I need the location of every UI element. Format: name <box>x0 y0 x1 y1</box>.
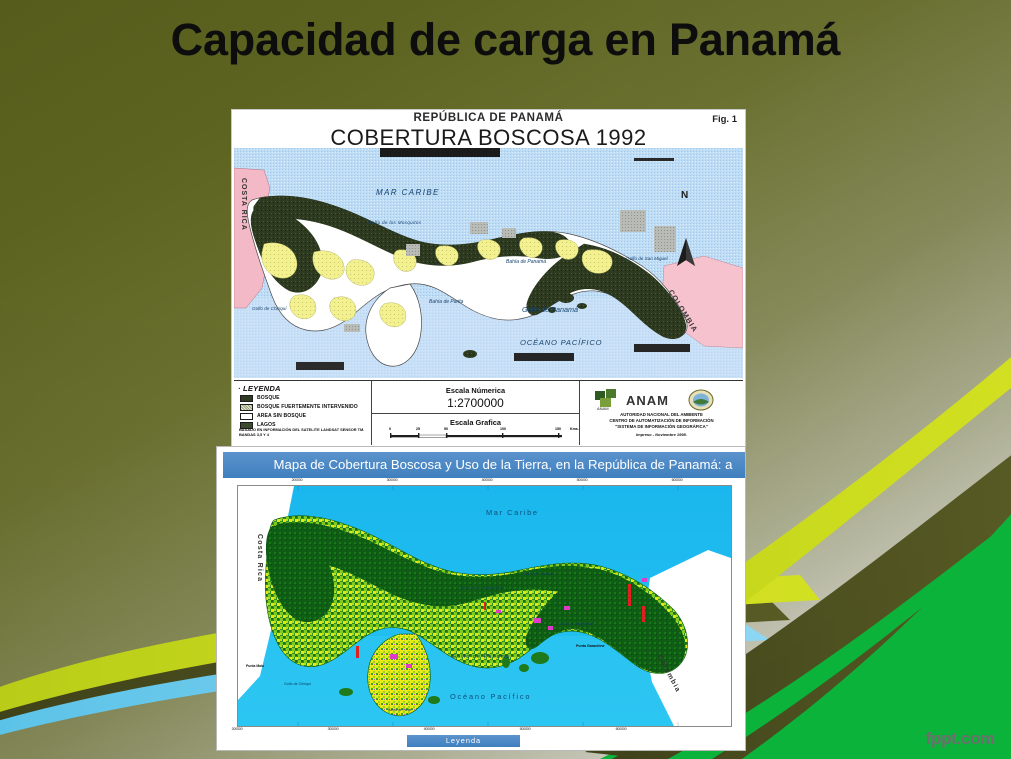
legend-header: · LEYENDA <box>238 384 281 393</box>
sig-seal-icon <box>688 389 714 411</box>
map-image-cobertura-uso-tierra[interactable]: Mapa de Cobertura Boscosa y Uso de la Ti… <box>217 447 745 750</box>
map2-tick: 400000 <box>482 478 493 482</box>
scale-tick: 100 <box>500 427 506 431</box>
fppt-watermark: fppt.com <box>926 729 995 749</box>
map2-tick: 500000 <box>577 478 588 482</box>
map2-legend-button[interactable]: Leyenda <box>407 735 520 747</box>
legend-source-note: BASADO EN INFORMACIÓN DEL SATELITE LANDS… <box>239 427 367 438</box>
legend-label-bosque-intervenido: BOSQUE FUERTEMENTE INTERVENIDO <box>257 404 358 410</box>
legend-swatch-bosque <box>240 395 253 402</box>
svg-text:ANAM: ANAM <box>597 406 609 411</box>
map2-title-bar: Mapa de Cobertura Boscosa y Uso de la Ti… <box>223 452 745 478</box>
map2-tick: 300000 <box>328 727 339 731</box>
anam-line3: "SISTEMA DE INFORMACIÓN GEOGRÁFICA" <box>582 424 741 430</box>
scale-units: Kms. <box>570 427 579 431</box>
map-image-cobertura-1992[interactable]: REPÚBLICA DE PANAMÁ COBERTURA BOSCOSA 19… <box>232 110 745 446</box>
legend-label-area-sin-bosque: AREA SIN BOSQUE <box>257 413 306 419</box>
scale-tick: 150 <box>555 427 561 431</box>
map1-subtitle: REPÚBLICA DE PANAMÁ <box>232 112 745 124</box>
legend-swatch-bosque-intervenido <box>240 404 253 411</box>
map2-tick: 600000 <box>616 727 627 731</box>
anam-description: AUTORIDAD NACIONAL DEL AMBIENTE CENTRO D… <box>582 412 741 431</box>
map2-tick: 200000 <box>292 478 303 482</box>
map1-agency: ANAM ANAM AUTORIDAD NACIONAL DEL AMBIENT… <box>580 381 743 445</box>
legend-swatch-area-sin-bosque <box>240 413 253 420</box>
scale-tick: 50 <box>444 427 448 431</box>
page-title: Capacidad de carga en Panamá <box>0 14 1011 66</box>
anam-logo-icon: ANAM <box>594 389 622 411</box>
scale-bar <box>390 431 562 440</box>
scale-numeric-value: 1:2700000 <box>372 396 579 410</box>
legend-label-bosque: BOSQUE <box>257 395 280 401</box>
map2-tick: 500000 <box>520 727 531 731</box>
slide-canvas: Capacidad de carga en Panamá REPÚBLICA D… <box>0 0 1011 759</box>
map2-tick: 400000 <box>424 727 435 731</box>
scale-numeric-title: Escala Númerica <box>372 386 579 395</box>
map2-canvas: Costa Rica Colombia Mar Caribe Golfo de … <box>237 485 732 727</box>
map2-tick: 200000 <box>232 727 243 731</box>
anam-acronym: ANAM <box>626 393 669 408</box>
map1-scale: Escala Númerica 1:2700000 Escala Grafica… <box>372 381 580 445</box>
map1-figure-label: Fig. 1 <box>712 114 737 125</box>
map2-tick: 300000 <box>387 478 398 482</box>
scale-tick: 0 <box>389 427 391 431</box>
scale-tick: 25 <box>416 427 420 431</box>
scale-graphic-title: Escala Grafica <box>372 418 579 427</box>
map2-tick: 600000 <box>672 478 683 482</box>
map1-legend: · LEYENDA BOSQUE BOSQUE FUERTEMENTE INTE… <box>234 381 372 445</box>
map1-info-strip: · LEYENDA BOSQUE BOSQUE FUERTEMENTE INTE… <box>234 380 743 445</box>
map1-canvas: COSTA RICA COLOMBIA MAR CARIBE Golfo de … <box>234 148 743 378</box>
anam-imprint: Impreso - Noviembre 1998. <box>582 432 741 437</box>
